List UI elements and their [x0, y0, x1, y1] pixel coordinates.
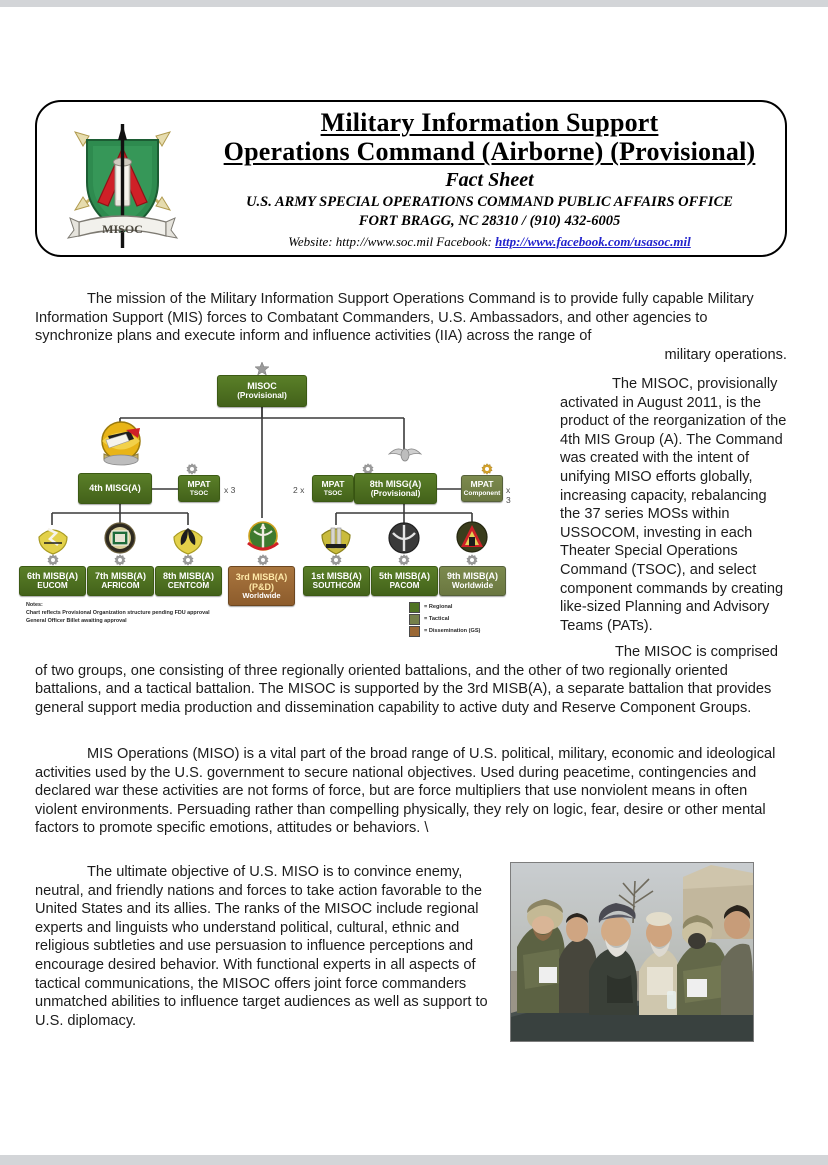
header-office: U.S. ARMY SPECIAL OPERATIONS COMMAND PUB… [197, 193, 782, 212]
dui-8th-misg-icon [388, 442, 422, 464]
chart-box-7th-misb[interactable]: 7th MISB(A) AFRICOM [87, 566, 154, 596]
organization-chart: MISOC (Provisional) [12, 363, 512, 653]
dui-6th-misb-icon [36, 523, 70, 555]
legend-item-dissemination: = Dissemination (GS) [409, 625, 480, 637]
gear-icon [182, 554, 194, 566]
gear-icon [186, 463, 198, 475]
fact-sheet-header: MISOC Military Information Support Opera… [35, 100, 787, 257]
legend-item-regional: = Regional [409, 601, 480, 613]
chart-box-9th-misb[interactable]: 9th MISB(A) Worldwide [439, 566, 506, 596]
misoc-history-body: The MISOC, provisionally activated in Au… [560, 376, 786, 634]
paragraph-miso-definition: MIS Operations (MISO) is a vital part of… [35, 745, 787, 838]
legend-label-dissemination: = Dissemination (GS) [424, 628, 480, 634]
crest-scroll-label: MISOC [102, 222, 143, 236]
mpat-multiplier-left: x 3 [224, 485, 235, 495]
chart-box-4th-misg[interactable]: 4th MISG(A) [78, 473, 152, 504]
legend-item-tactical: = Tactical [409, 613, 480, 625]
paragraph-mission: The mission of the Military Information … [35, 290, 787, 364]
dui-7th-misb-icon [103, 522, 137, 555]
paragraph-misoc-history: The MISOC, provisionally activated in Au… [560, 375, 788, 635]
gear-icon [47, 554, 59, 566]
facebook-link[interactable]: http://www.facebook.com/usasoc.mil [495, 234, 691, 249]
dui-3rd-misb-icon [244, 521, 282, 555]
chart-box-5th-misb[interactable]: 5th MISB(A) PACOM [371, 566, 438, 596]
gear-icon-gold [481, 463, 493, 475]
miso-definition-body: MIS Operations (MISO) is a vital part of… [35, 746, 775, 836]
header-contact: Website: http://www.soc.mil Facebook: ht… [197, 232, 782, 251]
chart-box-misoc[interactable]: MISOC (Provisional) [217, 375, 307, 407]
misoc-crest-icon: MISOC [55, 110, 190, 252]
mpat-multiplier-center: 2 x [293, 485, 304, 495]
chart-notes: Notes: Chart reflects Provisional Organi… [26, 601, 210, 626]
gear-icon [466, 554, 478, 566]
header-subtitle: Fact Sheet [197, 168, 782, 193]
gear-icon [257, 554, 269, 566]
dui-1st-misb-icon [319, 522, 353, 555]
general-officer-star-icon [255, 362, 269, 375]
gear-icon [330, 554, 342, 566]
chart-box-mpat-tsoc-right[interactable]: MPAT TSOC [312, 475, 354, 502]
viewer-top-bar [0, 0, 828, 7]
legend-label-regional: = Regional [424, 604, 452, 610]
notes-heading: Notes: [26, 601, 210, 609]
legend-label-tactical: = Tactical [424, 616, 449, 622]
chart-legend: = Regional = Tactical = Dissemination (G… [409, 601, 480, 637]
comprised-body: The MISOC is comprised of two groups, on… [35, 644, 778, 716]
chart-box-1st-misb[interactable]: 1st MISB(A) SOUTHCOM [303, 566, 370, 596]
mpat-multiplier-right: x 3 [506, 485, 512, 505]
header-title-line2: Operations Command (Airborne) (Provision… [197, 138, 782, 167]
chart-box-8th-misg[interactable]: 8th MISG(A) (Provisional) [354, 473, 437, 504]
dui-4th-misg-icon [96, 420, 146, 466]
dui-8th-misb-icon [171, 523, 205, 555]
header-address: FORT BRAGG, NC 28310 / (910) 432-6005 [197, 212, 782, 231]
legend-swatch-tactical [409, 614, 420, 625]
paragraph-ultimate-objective: The ultimate objective of U.S. MISO is t… [35, 863, 490, 1030]
legend-swatch-regional [409, 602, 420, 613]
dui-9th-misb-icon [454, 521, 490, 555]
header-title-line1: Military Information Support [197, 109, 782, 138]
chart-box-8th-misb[interactable]: 8th MISB(A) CENTCOM [155, 566, 222, 596]
paragraph-comprised: The MISOC is comprised of two groups, on… [35, 643, 787, 717]
chart-box-3rd-misb[interactable]: 3rd MISB(A) (P&D) Worldwide [228, 566, 295, 606]
notes-line-2: General Officer Billet awaiting approval [26, 617, 210, 625]
gear-icon [114, 554, 126, 566]
chart-box-mpat-tsoc-left[interactable]: MPAT TSOC [178, 475, 220, 502]
gear-icon [398, 554, 410, 566]
mission-body: The mission of the Military Information … [35, 291, 754, 344]
soldiers-with-elders-photo [510, 862, 754, 1042]
ultimate-objective-body: The ultimate objective of U.S. MISO is t… [35, 864, 488, 1029]
notes-line-1: Chart reflects Provisional Organization … [26, 609, 210, 617]
legend-swatch-dissemination [409, 626, 420, 637]
document-page: MISOC Military Information Support Opera… [0, 7, 828, 1155]
website-text: Website: http://www.soc.mil Facebook: [288, 234, 495, 249]
viewer-bottom-bar [0, 1154, 828, 1165]
mission-tail: military operations. [35, 346, 787, 365]
chart-box-mpat-component[interactable]: MPAT Component [461, 475, 503, 502]
dui-5th-misb-icon [387, 521, 421, 555]
chart-box-6th-misb[interactable]: 6th MISB(A) EUCOM [19, 566, 86, 596]
